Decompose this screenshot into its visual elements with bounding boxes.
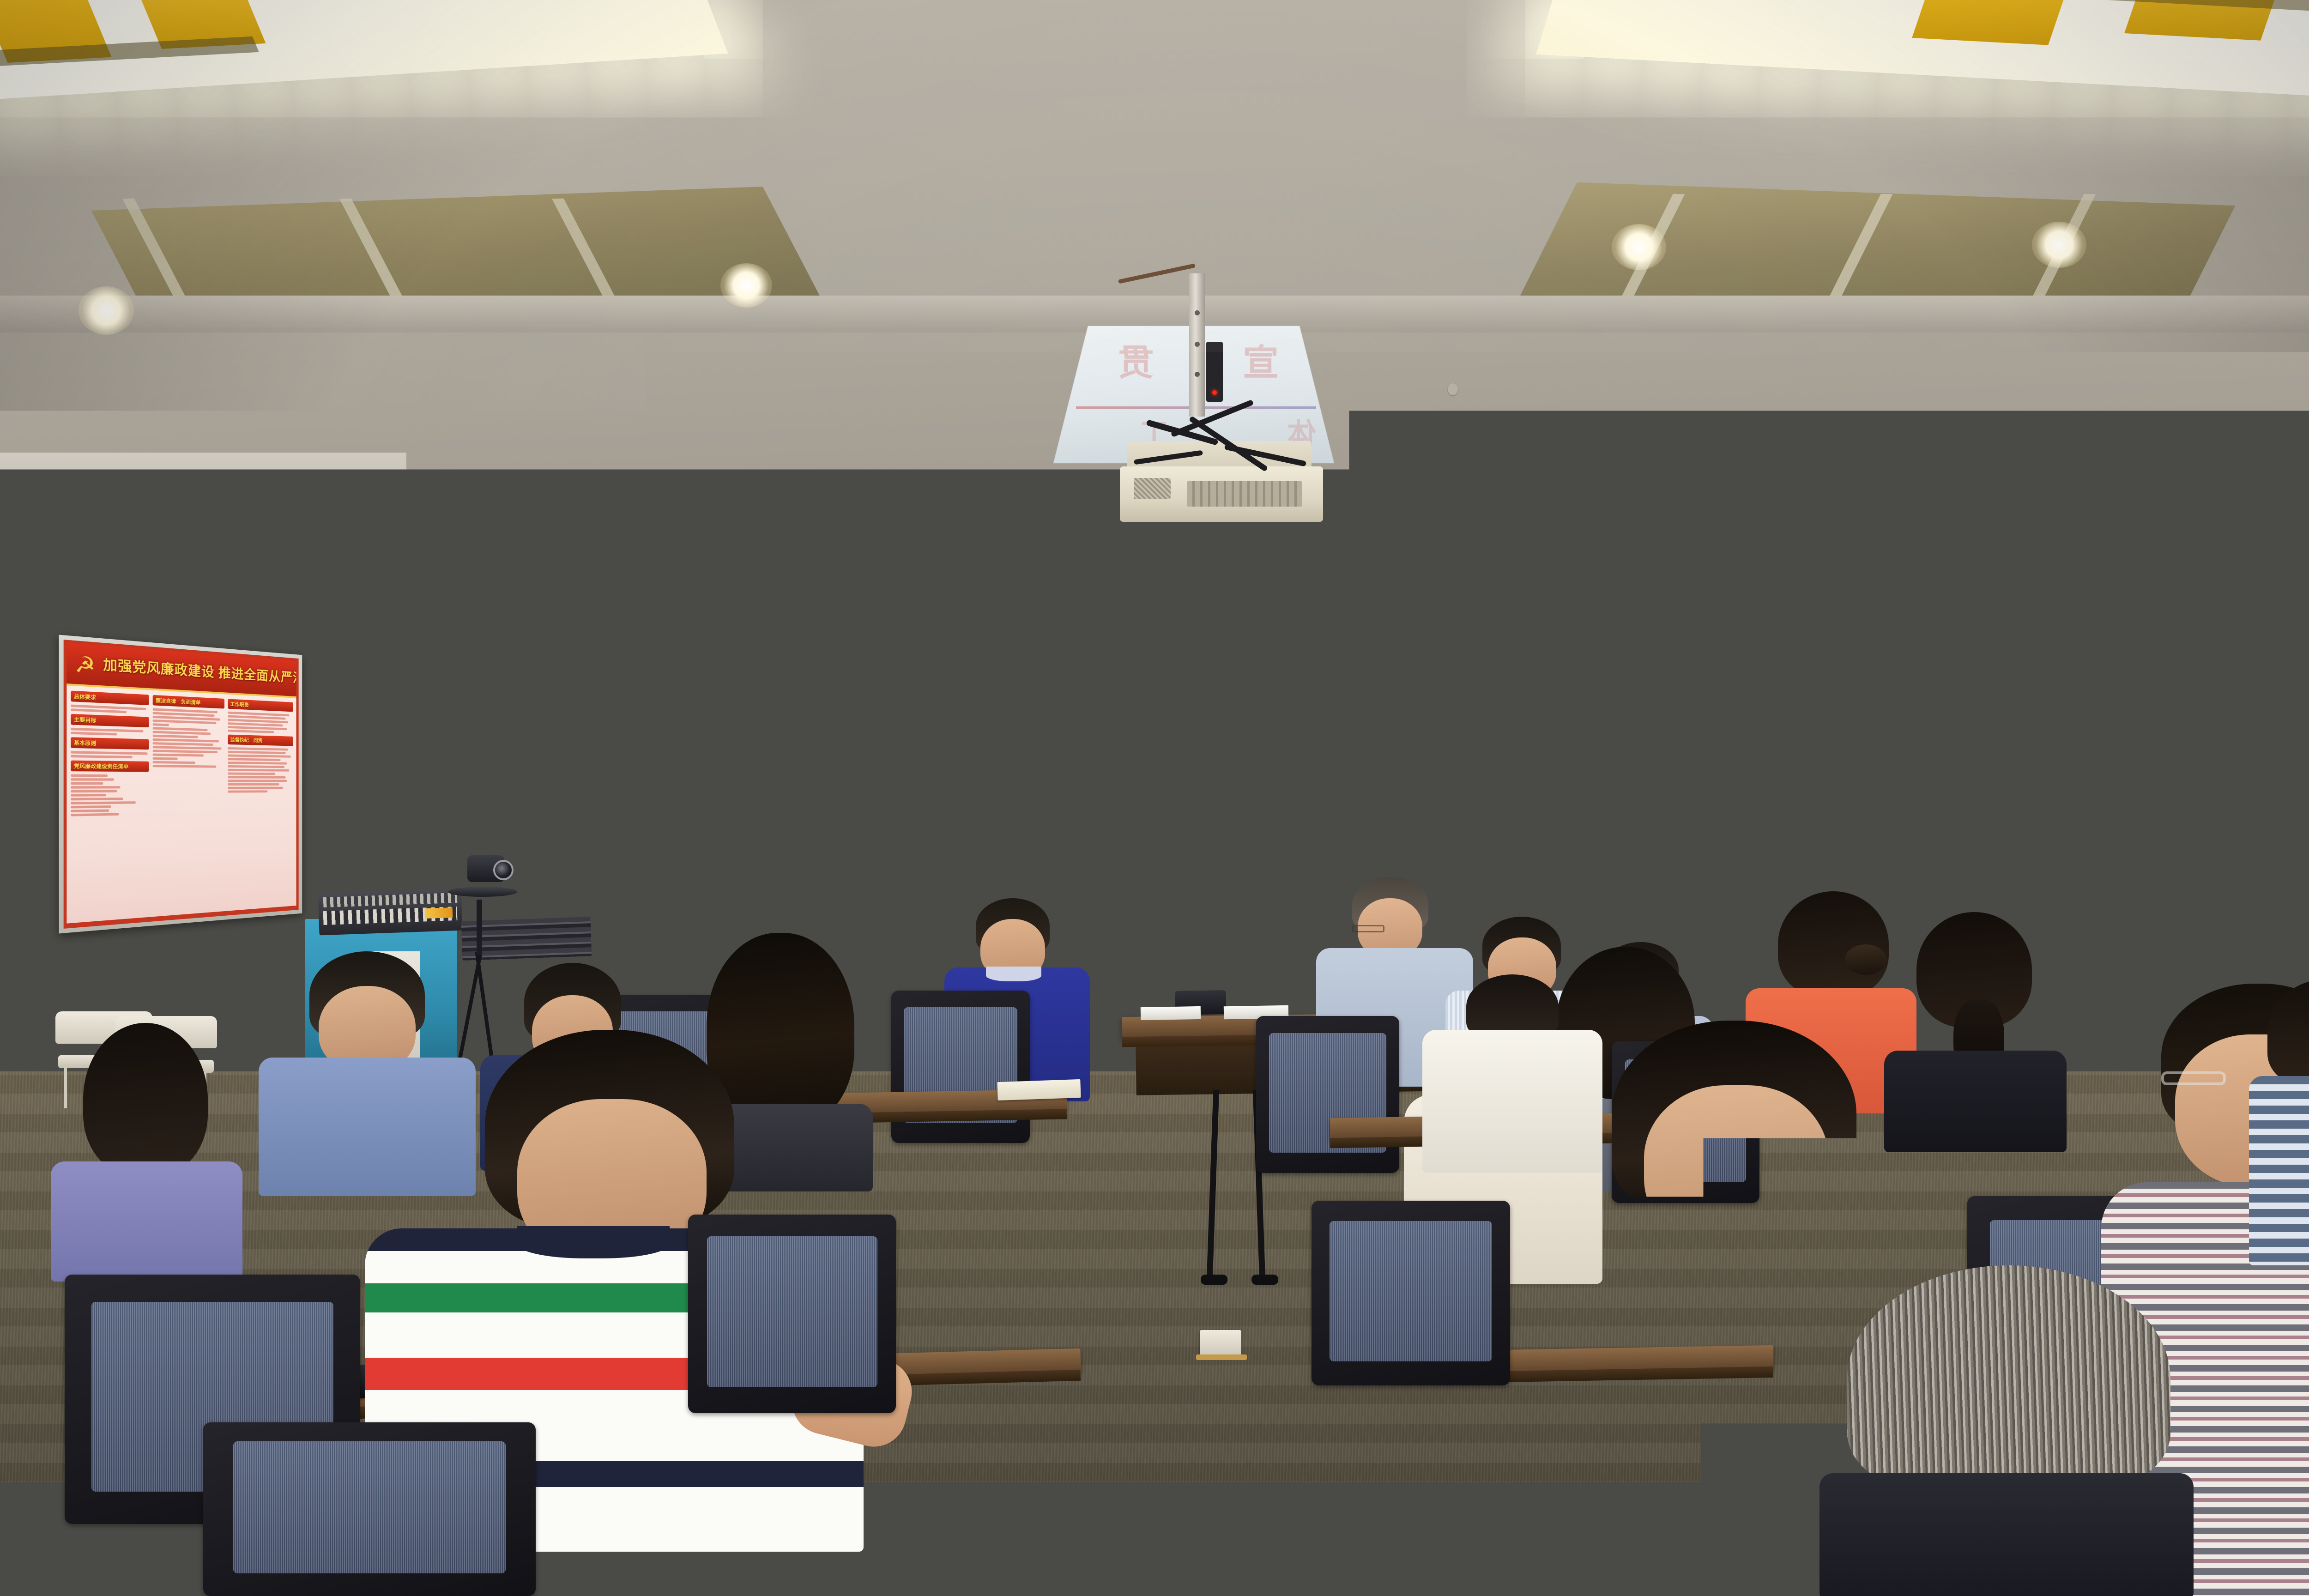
valance-screw — [1376, 561, 1388, 566]
ceiling-downlight — [1612, 224, 1666, 270]
glasses-icon — [2161, 1071, 2226, 1085]
poster-section-label: 主要目标 — [71, 714, 149, 727]
office-chair[interactable] — [203, 1422, 536, 1596]
emergency-exit-light — [14, 561, 69, 598]
poster-text-block — [153, 708, 224, 768]
valance-screw — [951, 572, 963, 577]
poster-section-label: 基本原则 — [71, 737, 149, 750]
poster-inner: ☭ 加强党风廉政建设 推进全面从严治党 总体要求 主要目标 基本原则 — [64, 640, 299, 929]
poster-text-block — [71, 728, 149, 737]
reflected-glyph: 贯 — [1094, 344, 1178, 381]
table-foot — [1251, 1275, 1278, 1285]
person-torso — [2249, 1076, 2309, 1265]
person-torso — [1819, 1473, 2194, 1596]
mount-hole — [1195, 342, 1200, 347]
slide-date: 2019年8月 — [921, 834, 1523, 868]
notebook — [997, 1079, 1081, 1100]
office-chair[interactable] — [1256, 1016, 1399, 1173]
person-collar — [517, 1226, 670, 1258]
poster-section-label: 监督执纪 问责 — [228, 735, 293, 746]
projector-vent — [1134, 478, 1171, 499]
attendee-foreground — [1819, 1265, 2198, 1596]
valance-screw — [1413, 560, 1425, 565]
poster-section-label: 党风廉政建设责任清单 — [71, 761, 149, 772]
chair-mesh-back — [707, 1236, 877, 1387]
ceiling-downlight — [864, 501, 894, 527]
person-hair — [83, 1023, 208, 1175]
ceiling-sensor — [1448, 383, 1458, 395]
poster-section-label: 廉洁自律 负面清单 — [153, 695, 224, 709]
camera-lens-icon — [2128, 731, 2147, 750]
glasses-icon — [862, 770, 919, 779]
ceiling-downlight — [1522, 483, 1551, 508]
projector-ports — [1187, 481, 1302, 507]
ceiling-downlight — [79, 286, 134, 335]
conference-room-photo: 贯 宣 工 体 ☭ 加强党风廉政建设 推进全面从严治党 — [0, 0, 2309, 1596]
mixer-accent-strip — [425, 907, 453, 919]
poster-section-label: 工作职责 — [228, 699, 293, 712]
hp-logo-icon: hp — [1775, 856, 1810, 880]
person-hair — [9, 1219, 194, 1372]
person-hair — [1778, 891, 1889, 997]
reflected-glyph: 宣 — [1219, 344, 1302, 381]
valance-screw — [1205, 567, 1217, 572]
mount-hole — [1195, 372, 1200, 377]
floor-cable-cover — [1196, 1354, 1247, 1360]
nameplate — [1141, 1006, 1201, 1020]
power-led-icon — [1212, 390, 1217, 395]
attendee — [2249, 979, 2309, 1265]
person-hair — [1847, 1265, 2170, 1492]
table-foot — [1201, 1275, 1227, 1285]
party-emblem-icon: ☭ — [70, 651, 100, 679]
ceiling-downlight — [2032, 222, 2086, 268]
attendee-foreground — [0, 1219, 212, 1596]
hair-bun — [1845, 944, 1886, 975]
slide-subtitle: 宣 贯 会 议 — [920, 740, 1522, 796]
poster-body: 总体要求 主要目标 基本原则 党风廉政建设责任清单 — [66, 685, 296, 923]
poster-title: 加强党风廉政建设 推进全面从严治党 — [103, 653, 293, 686]
slide-company-name: 中船重工物资贸易集团上海实业有限公司 — [919, 605, 1521, 639]
floor-junction-box — [1200, 1330, 1241, 1357]
poster-text-block — [71, 774, 149, 816]
poster-text-block — [71, 705, 149, 714]
person-collar — [986, 967, 1041, 981]
chair-mesh-back — [233, 1441, 506, 1573]
poster-column: 廉洁自律 负面清单 — [153, 695, 224, 912]
emergency-light-indicator — [30, 581, 50, 588]
chair-mesh-back — [1330, 1221, 1493, 1361]
projector-top — [1127, 441, 1312, 470]
poster-column: 总体要求 主要目标 基本原则 党风廉政建设责任清单 — [71, 691, 149, 919]
office-chair[interactable] — [688, 1215, 896, 1413]
party-discipline-poster: ☭ 加强党风廉政建设 推进全面从严治党 总体要求 主要目标 基本原则 — [59, 635, 302, 934]
person-hair — [2267, 979, 2309, 1085]
poster-text-block — [71, 751, 149, 758]
mount-hole — [1195, 310, 1200, 315]
slide-title: ISO9001质量管理体系（B版） — [920, 671, 1522, 719]
conference-microphone-stem — [1196, 933, 1202, 995]
poster-text-block — [228, 712, 293, 734]
camera-lens-icon — [493, 860, 514, 880]
poster-column: 工作职责 监督执纪 问责 — [228, 699, 293, 906]
poster-text-block — [228, 747, 293, 793]
tripod-column — [477, 900, 482, 955]
ceiling-downlight — [720, 263, 772, 308]
presenter-hand — [870, 795, 906, 830]
poster-section-label: 总体要求 — [71, 691, 149, 705]
glasses-icon — [1352, 925, 1384, 932]
microphone-indicator — [1610, 844, 1619, 850]
ptz-camera-base — [448, 887, 517, 897]
